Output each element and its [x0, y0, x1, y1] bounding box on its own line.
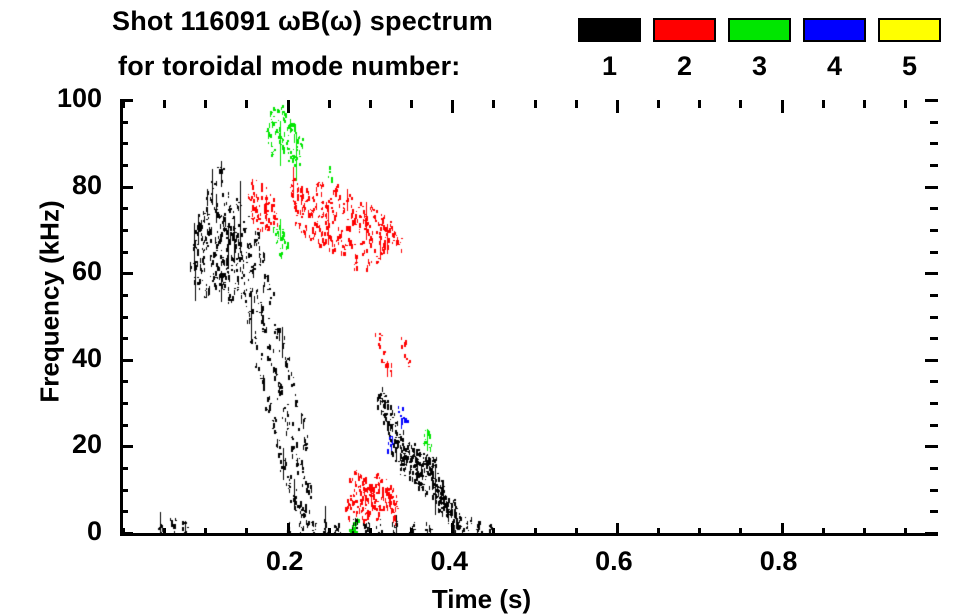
y-tick-right: [930, 164, 938, 167]
x-tick-top: [616, 100, 619, 113]
y-tick: [120, 489, 128, 492]
x-tick: [863, 528, 866, 536]
spectrogram-scatter-canvas: [123, 100, 938, 533]
y-tick: [120, 207, 128, 210]
y-tick-right: [930, 489, 938, 492]
legend-label-3: 3: [728, 51, 791, 82]
y-tick-right: [930, 294, 938, 297]
y-tick: [120, 532, 133, 535]
y-tick-right: [930, 337, 938, 340]
plot-area: [120, 100, 938, 536]
y-tick: [120, 467, 128, 470]
x-tick: [781, 523, 784, 536]
y-tick: [120, 186, 133, 189]
y-axis-label: Frequency (kHz): [35, 152, 66, 452]
data-layer: [123, 100, 938, 533]
legend: 12345: [578, 10, 950, 88]
x-tick-top: [657, 100, 660, 108]
x-tick: [616, 523, 619, 536]
y-tick: [120, 402, 128, 405]
x-tick-top: [781, 100, 784, 113]
legend-label-5: 5: [878, 51, 941, 82]
y-tick-right: [925, 359, 938, 362]
x-tick-top: [369, 100, 372, 108]
y-tick-right: [930, 510, 938, 513]
y-tick: [120, 445, 133, 448]
x-tick-top: [534, 100, 537, 108]
x-axis-label: Time (s): [0, 584, 963, 615]
x-tick-top: [328, 100, 331, 108]
spectrogram-figure: Shot 116091 ωB(ω) spectrum for toroidal …: [0, 0, 963, 615]
x-tick-top: [822, 100, 825, 108]
y-tick-right: [930, 316, 938, 319]
x-tick: [245, 528, 248, 536]
y-tick-right: [930, 467, 938, 470]
page-title-line-1: Shot 116091 ωB(ω) spectrum: [112, 6, 493, 37]
x-tick-top: [739, 100, 742, 108]
y-tick: [120, 316, 128, 319]
x-tick-top: [904, 100, 907, 108]
x-tick-label: 0.4: [409, 546, 489, 577]
legend-entry-5[interactable]: 5: [878, 10, 941, 88]
page-title-line-2: for toroidal mode number:: [118, 51, 461, 82]
x-tick-top: [863, 100, 866, 108]
y-tick: [120, 142, 128, 145]
y-tick-right: [925, 99, 938, 102]
y-tick: [120, 510, 128, 513]
y-tick: [120, 380, 128, 383]
x-tick: [204, 528, 207, 536]
x-tick-top: [163, 100, 166, 108]
x-tick: [328, 528, 331, 536]
legend-label-1: 1: [578, 51, 641, 82]
x-tick-label: 0.6: [574, 546, 654, 577]
x-tick: [163, 528, 166, 536]
x-tick-top: [575, 100, 578, 108]
legend-entry-2[interactable]: 2: [653, 10, 716, 88]
legend-label-2: 2: [653, 51, 716, 82]
legend-swatch-1: [578, 18, 641, 42]
y-tick-right: [930, 121, 938, 124]
y-tick: [120, 229, 128, 232]
y-tick-label: 0: [0, 516, 102, 547]
y-tick-right: [925, 445, 938, 448]
y-tick: [120, 424, 128, 427]
x-tick-top: [245, 100, 248, 108]
x-tick: [698, 528, 701, 536]
x-tick: [822, 528, 825, 536]
legend-entry-1[interactable]: 1: [578, 10, 641, 88]
x-tick-label: 0.2: [245, 546, 325, 577]
y-tick: [120, 337, 128, 340]
legend-swatch-5: [878, 18, 941, 42]
y-tick: [120, 99, 133, 102]
y-tick-right: [930, 229, 938, 232]
y-tick-right: [930, 142, 938, 145]
y-tick: [120, 251, 128, 254]
y-tick-right: [930, 251, 938, 254]
x-tick: [575, 528, 578, 536]
legend-entry-4[interactable]: 4: [803, 10, 866, 88]
legend-entry-3[interactable]: 3: [728, 10, 791, 88]
y-tick: [120, 272, 133, 275]
legend-swatch-2: [653, 18, 716, 42]
y-tick-right: [925, 186, 938, 189]
y-tick-right: [925, 272, 938, 275]
y-tick: [120, 121, 128, 124]
x-tick: [410, 528, 413, 536]
y-tick-right: [930, 424, 938, 427]
x-tick: [492, 528, 495, 536]
y-tick-right: [930, 207, 938, 210]
y-tick-right: [925, 532, 938, 535]
x-tick-top: [287, 100, 290, 113]
x-tick: [904, 528, 907, 536]
y-tick: [120, 164, 128, 167]
x-tick-top: [698, 100, 701, 108]
x-tick: [287, 523, 290, 536]
x-tick: [739, 528, 742, 536]
legend-swatch-4: [803, 18, 866, 42]
x-tick-top: [204, 100, 207, 108]
x-tick-top: [451, 100, 454, 113]
y-tick-right: [930, 402, 938, 405]
x-tick-top: [492, 100, 495, 108]
y-tick-right: [930, 380, 938, 383]
y-tick: [120, 294, 128, 297]
x-tick-label: 0.8: [739, 546, 819, 577]
y-tick: [120, 359, 133, 362]
y-tick-label: 100: [0, 83, 102, 114]
x-tick: [657, 528, 660, 536]
x-tick: [534, 528, 537, 536]
legend-label-4: 4: [803, 51, 866, 82]
x-tick: [369, 528, 372, 536]
x-tick-top: [410, 100, 413, 108]
legend-swatch-3: [728, 18, 791, 42]
x-tick: [451, 523, 454, 536]
